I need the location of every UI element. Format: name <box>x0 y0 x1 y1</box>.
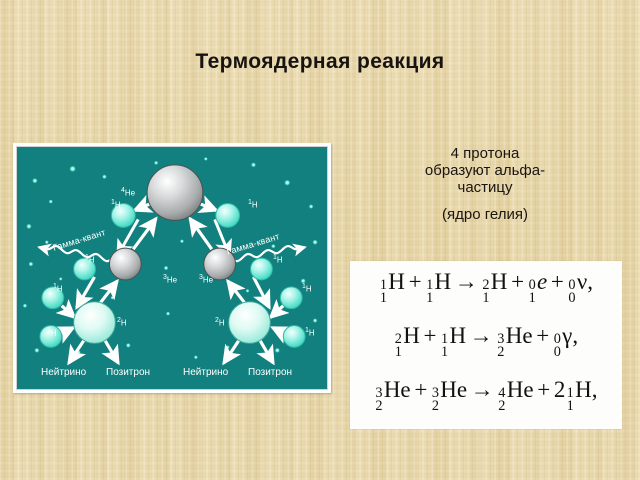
proton-mid-left <box>74 258 96 280</box>
page-title: Термоядерная реакция <box>0 50 640 74</box>
proton-bottom-left <box>40 326 62 348</box>
helium4-nucleus <box>147 165 203 221</box>
formula-reaction-1: 11H+11H→21H+01e+00ν, <box>350 269 622 295</box>
helium3-left <box>109 248 141 280</box>
diagram-graphics <box>17 147 327 389</box>
proton-low-left <box>42 287 64 309</box>
description-sub: (ядро гелия) <box>345 206 625 223</box>
description-block: 4 протона образуют альфа- частицу (ядро … <box>345 145 625 223</box>
proton-mid-right <box>250 258 272 280</box>
deuterium-right <box>229 302 271 344</box>
proton-proton-chain-diagram: 4He 1H 1H 3He 3He 1H 1H 1H 1H 1H 1H 2H 2… <box>13 143 331 393</box>
formula-reaction-2: 21H+11H→32He+00γ, <box>350 323 622 349</box>
proton-bottom-right <box>283 326 305 348</box>
diagram-stage: 4He 1H 1H 3He 3He 1H 1H 1H 1H 1H 1H 2H 2… <box>16 146 328 390</box>
gamma-quant-wave-left <box>39 246 117 261</box>
description-main: 4 протона образуют альфа- частицу <box>345 145 625 196</box>
proton-top-right <box>216 204 240 228</box>
deuterium-left <box>74 302 116 344</box>
nuclei-group <box>40 165 305 347</box>
proton-top-left <box>111 204 135 228</box>
helium3-right <box>204 248 236 280</box>
nuclear-reaction-formulas: 11H+11H→21H+01e+00ν, 21H+11H→32He+00γ, 3… <box>350 261 622 429</box>
formula-reaction-3: 32He+32He→42He+211H, <box>350 377 622 403</box>
proton-low-right <box>280 287 302 309</box>
